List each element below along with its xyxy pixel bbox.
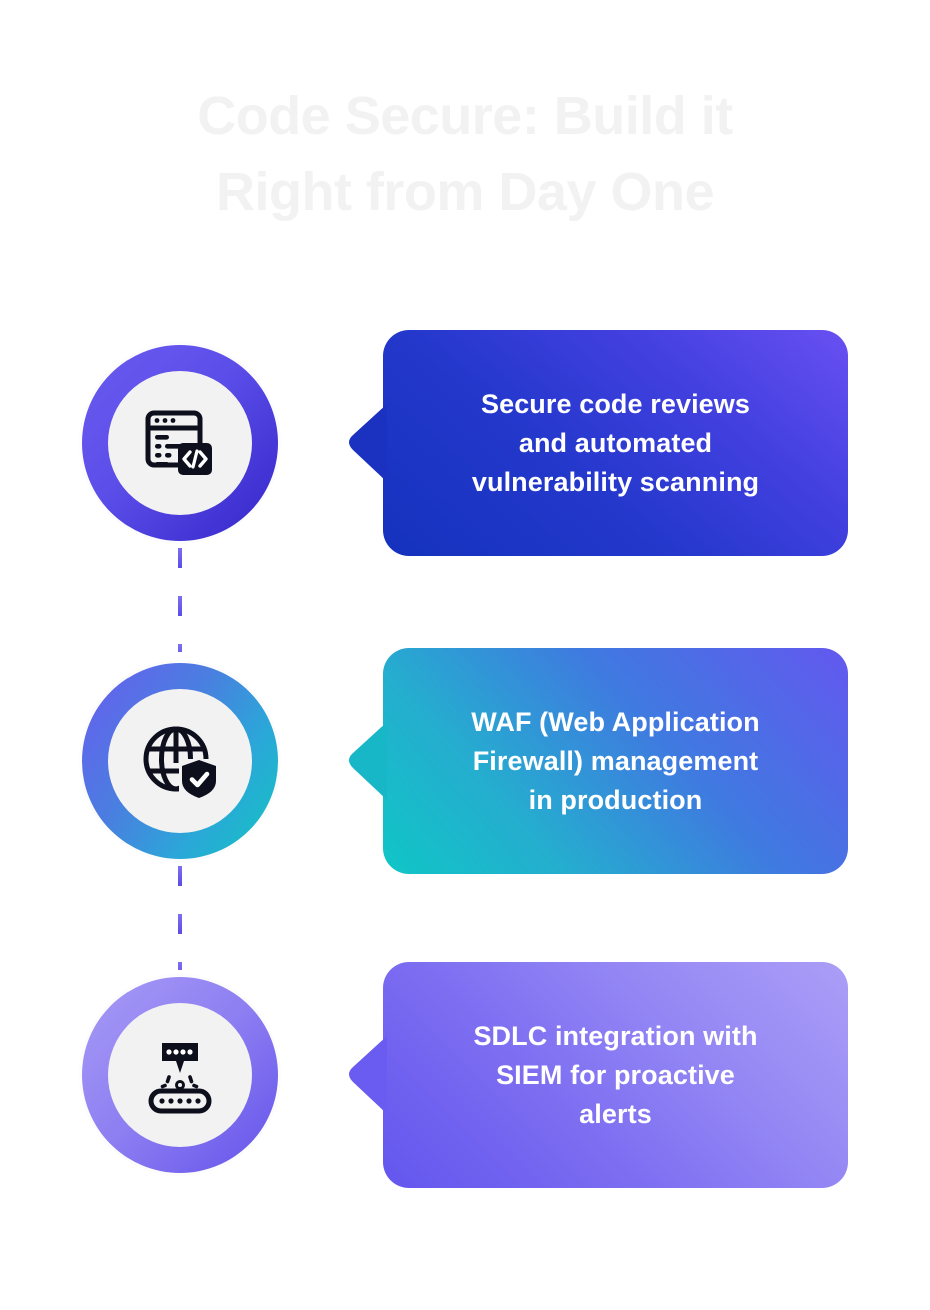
globe-shield-icon [138,719,222,803]
step-1-card-tail [345,404,385,482]
step-row-3: SDLC integration with SIEM for proactive… [0,962,930,1190]
step-3-card: SDLC integration with SIEM for proactive… [383,962,848,1188]
code-window-icon [138,401,222,485]
step-3-icon-circle [82,977,278,1173]
step-row-2: WAF (Web Application Firewall) managemen… [0,648,930,876]
step-1-icon-inner [108,371,252,515]
step-2-card-tail [345,722,385,800]
step-1-card: Secure code reviews and automated vulner… [383,330,848,556]
funnel-conveyor-icon [138,1033,222,1117]
step-row-1: Secure code reviews and automated vulner… [0,330,930,558]
step-3-text: SDLC integration with SIEM for proactive… [473,1017,757,1134]
step-2-card: WAF (Web Application Firewall) managemen… [383,648,848,874]
page-title: Code Secure: Build it Right from Day One [0,78,930,230]
step-2-text: WAF (Web Application Firewall) managemen… [471,703,759,820]
step-3-card-tail [345,1036,385,1114]
step-3-icon-inner [108,1003,252,1147]
connector-step-2-to-3 [178,866,182,970]
infographic-root: Code Secure: Build it Right from Day One [0,0,930,1310]
step-1-text: Secure code reviews and automated vulner… [472,385,759,502]
connector-step-1-to-2 [178,548,182,652]
step-2-icon-inner [108,689,252,833]
step-1-icon-circle [82,345,278,541]
step-2-icon-circle [82,663,278,859]
